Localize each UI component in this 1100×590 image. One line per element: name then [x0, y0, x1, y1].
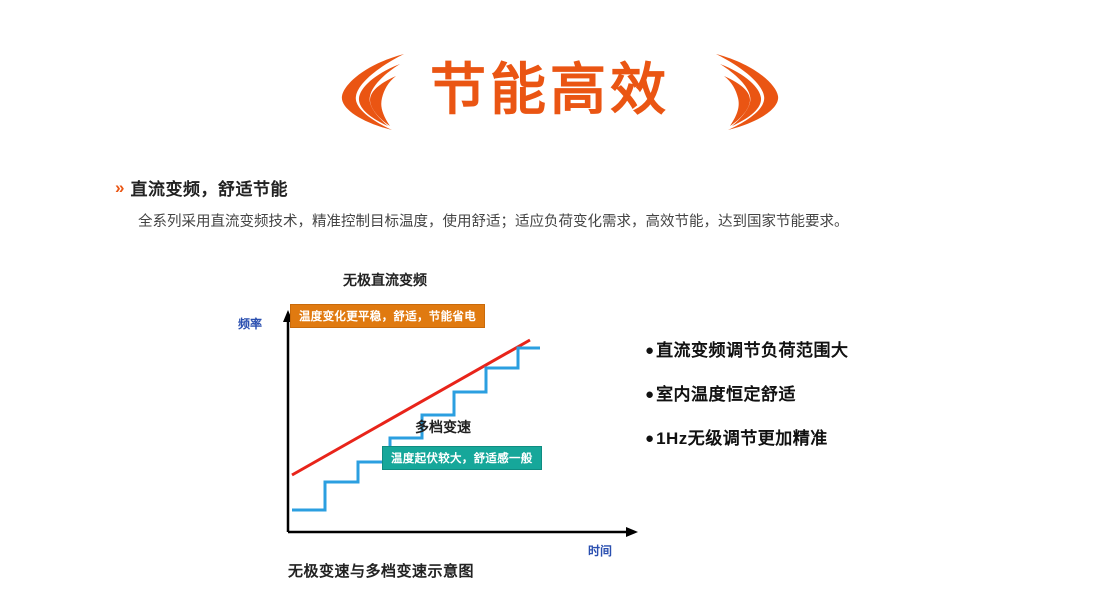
bullet-dot-icon: ●	[645, 340, 654, 362]
swoosh-right-icon	[710, 46, 790, 136]
bullet-label: 1Hz无级调节更加精准	[656, 428, 828, 450]
page-title: 节能高效	[0, 46, 1100, 136]
bullet-label: 室内温度恒定舒适	[656, 384, 796, 406]
section-body-text: 全系列采用直流变频技术，精准控制目标温度，使用舒适；适应负荷变化需求，高效节能，…	[138, 209, 993, 235]
frequency-time-diagram: 无极直流变频 频率 时间 温度变化更平稳，舒适，节能省电 多档变速 温度起伏较大…	[230, 270, 670, 580]
callout-stepped-drawback: 温度起伏较大，舒适感一般	[382, 446, 542, 470]
bullet-dot-icon: ●	[645, 428, 654, 450]
section-heading: » 直流变频，舒适节能	[115, 175, 288, 200]
feature-bullet-list: ● 直流变频调节负荷范围大 ● 室内温度恒定舒适 ● 1Hz无级调节更加精准	[645, 340, 849, 472]
section-heading-label: 直流变频，舒适节能	[130, 175, 288, 200]
list-item: ● 1Hz无级调节更加精准	[645, 428, 849, 450]
list-item: ● 直流变频调节负荷范围大	[645, 340, 849, 362]
chart-bottom-caption: 无极变速与多档变速示意图	[288, 560, 474, 581]
double-chevron-icon: »	[115, 179, 124, 196]
title-banner: 节能高效	[0, 46, 1100, 136]
chart-mid-label: 多档变速	[415, 417, 471, 437]
list-item: ● 室内温度恒定舒适	[645, 384, 849, 406]
bullet-dot-icon: ●	[645, 384, 654, 406]
x-axis-arrow	[626, 527, 638, 537]
callout-inverter-benefit: 温度变化更平稳，舒适，节能省电	[290, 304, 485, 328]
bullet-label: 直流变频调节负荷范围大	[656, 340, 849, 362]
